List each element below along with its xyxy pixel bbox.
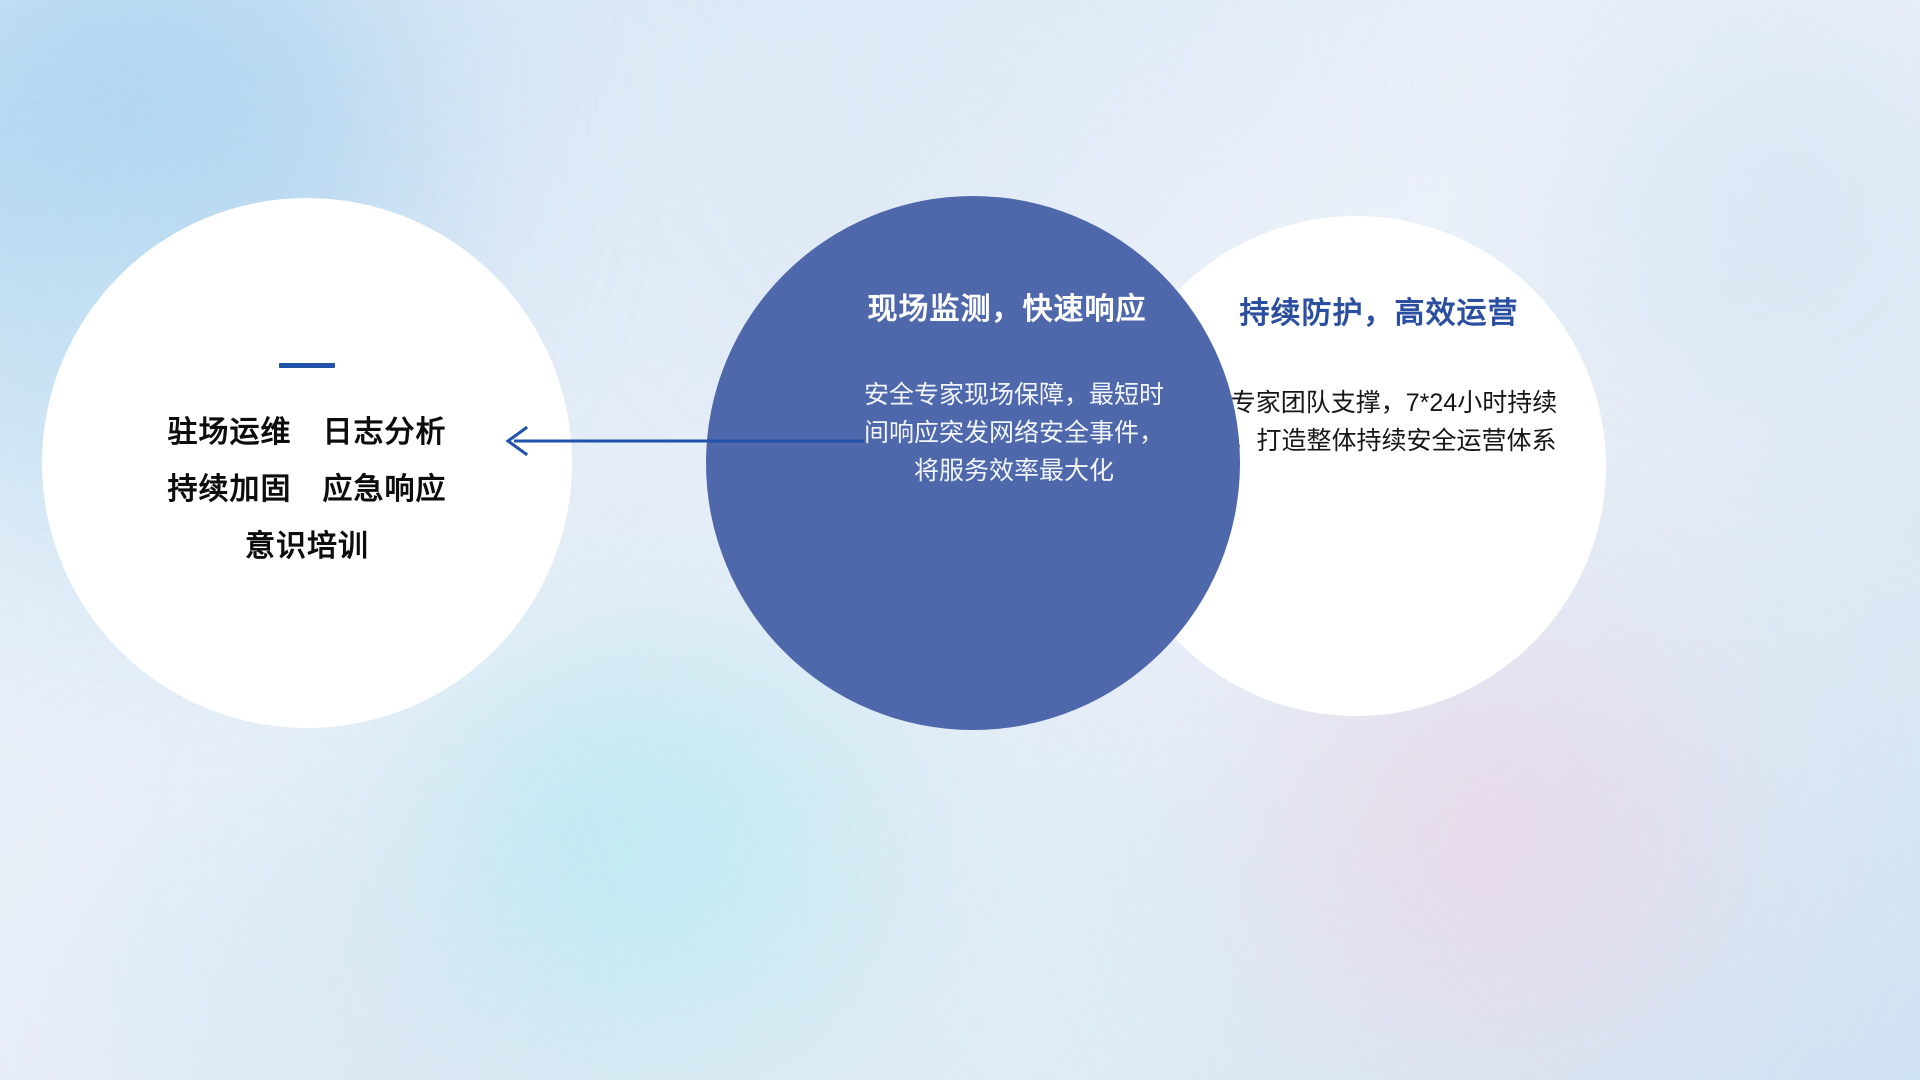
slide-canvas: 驻场运维 日志分析 持续加固 应急响应 意识培训 持续防护，高效运营 远程专家团… <box>0 0 1920 1080</box>
arrow-left-icon <box>492 418 864 464</box>
capability-keyword-line: 驻场运维 日志分析 <box>168 416 447 449</box>
capability-keyword-line: 持续加固 应急响应 <box>168 473 447 506</box>
capability-middle-title: 现场监测，快速响应 <box>868 284 1147 328</box>
capability-keyword-line: 意识培训 <box>245 530 369 563</box>
dash-divider-icon <box>279 363 335 368</box>
capability-middle-body: 安全专家现场保障，最短时间响应突发网络安全事件，将服务效率最大化 <box>864 376 1164 490</box>
flow-arrow-left <box>492 418 864 464</box>
capability-keyword-list: 驻场运维 日志分析 持续加固 应急响应 意识培训 <box>168 416 447 563</box>
capability-right-title: 持续防护，高效运营 <box>1240 288 1519 332</box>
